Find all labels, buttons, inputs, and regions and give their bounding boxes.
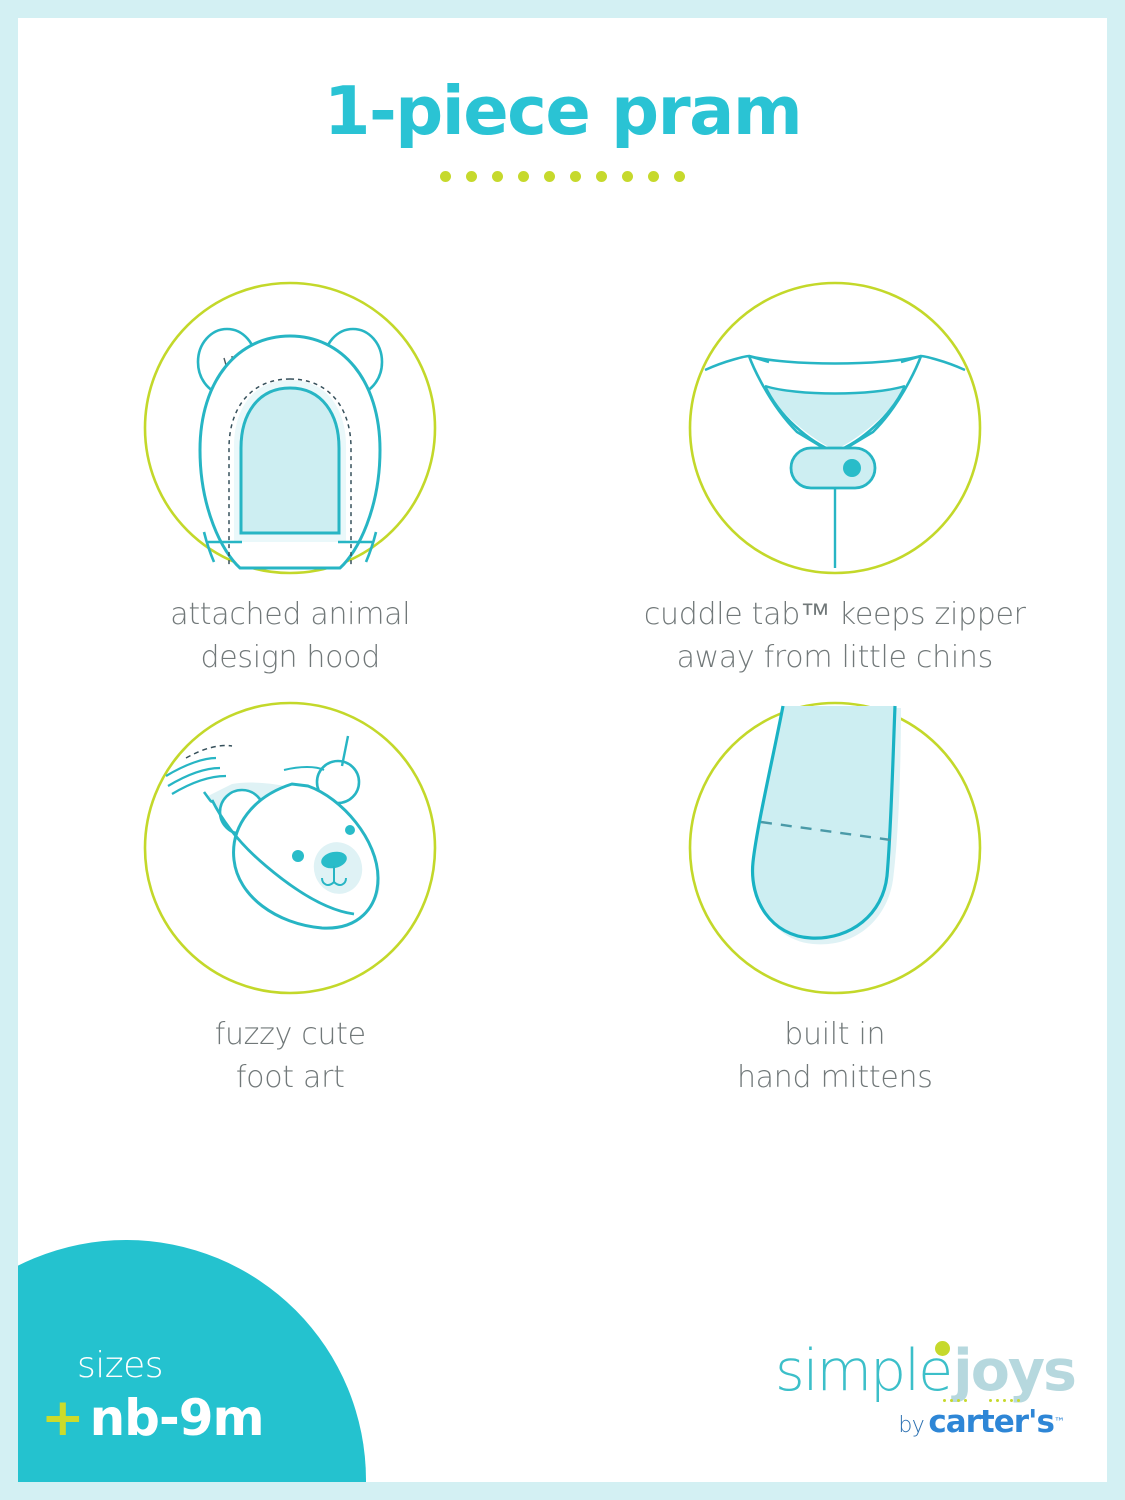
logo-dot-gap bbox=[971, 1399, 985, 1402]
logo-by-text: by bbox=[898, 1413, 924, 1438]
bear-hood-icon bbox=[142, 280, 438, 576]
logo-dot bbox=[1010, 1399, 1013, 1402]
logo-dot bbox=[943, 1399, 946, 1402]
divider-dot bbox=[596, 171, 607, 182]
logo-dot bbox=[996, 1399, 999, 1402]
divider-dot bbox=[648, 171, 659, 182]
logo-dot bbox=[989, 1399, 992, 1402]
logo-wordmark: simplejoys bbox=[775, 1343, 1075, 1400]
feature-hand-mittens: built in hand mittens bbox=[563, 700, 1108, 1100]
feature-fuzzy-foot-art: fuzzy cute foot art bbox=[18, 700, 563, 1100]
divider-dot bbox=[544, 171, 555, 182]
divider-dot bbox=[492, 171, 503, 182]
size-badge-content: sizes + nb-9m bbox=[41, 1348, 341, 1444]
title-block: 1-piece pram bbox=[18, 78, 1107, 182]
logo-byline: bycarter's™ bbox=[775, 1404, 1065, 1440]
feature-caption: cuddle tab™ keeps zipper away from littl… bbox=[644, 594, 1026, 680]
logo-dot bbox=[964, 1399, 967, 1402]
logo-brand-text: carter's bbox=[928, 1404, 1054, 1440]
feature-cuddle-tab: cuddle tab™ keeps zipper away from littl… bbox=[563, 280, 1108, 680]
mitten-icon bbox=[687, 700, 983, 996]
size-label: sizes bbox=[77, 1348, 341, 1384]
feature-attached-animal-hood: attached animal design hood bbox=[18, 280, 563, 680]
divider-dot bbox=[570, 171, 581, 182]
feature-caption: fuzzy cute foot art bbox=[215, 1014, 366, 1100]
title-divider-dots bbox=[18, 171, 1107, 182]
divider-dot bbox=[674, 171, 685, 182]
content-canvas: 1-piece pram bbox=[18, 18, 1107, 1482]
logo-word-simple: simple bbox=[775, 1338, 951, 1404]
brand-logo: simplejoys bycarter's™ bbox=[775, 1343, 1065, 1440]
infographic-page: 1-piece pram bbox=[0, 0, 1125, 1500]
logo-trademark: ™ bbox=[1054, 1416, 1065, 1429]
logo-dot bbox=[950, 1399, 953, 1402]
size-plus-icon: + bbox=[41, 1392, 85, 1444]
divider-dot bbox=[622, 171, 633, 182]
size-value-row: + nb-9m bbox=[41, 1392, 341, 1444]
size-value: nb-9m bbox=[90, 1393, 264, 1443]
logo-dot bbox=[1003, 1399, 1006, 1402]
divider-dot bbox=[518, 171, 529, 182]
bear-foot-art-icon bbox=[142, 700, 438, 996]
divider-dot bbox=[440, 171, 451, 182]
feature-caption: attached animal design hood bbox=[170, 594, 410, 680]
page-title: 1-piece pram bbox=[18, 78, 1107, 145]
feature-grid: attached animal design hood bbox=[18, 280, 1107, 1100]
collar-cuddle-tab-icon bbox=[687, 280, 983, 576]
logo-j-dot-icon bbox=[935, 1341, 950, 1356]
feature-caption: built in hand mittens bbox=[737, 1014, 933, 1100]
logo-underline-dots bbox=[943, 1399, 1020, 1402]
logo-dot bbox=[957, 1399, 960, 1402]
size-badge: sizes + nb-9m bbox=[18, 1240, 366, 1482]
logo-dot bbox=[1017, 1399, 1020, 1402]
logo-word-joys: joys bbox=[953, 1338, 1075, 1404]
divider-dot bbox=[466, 171, 477, 182]
